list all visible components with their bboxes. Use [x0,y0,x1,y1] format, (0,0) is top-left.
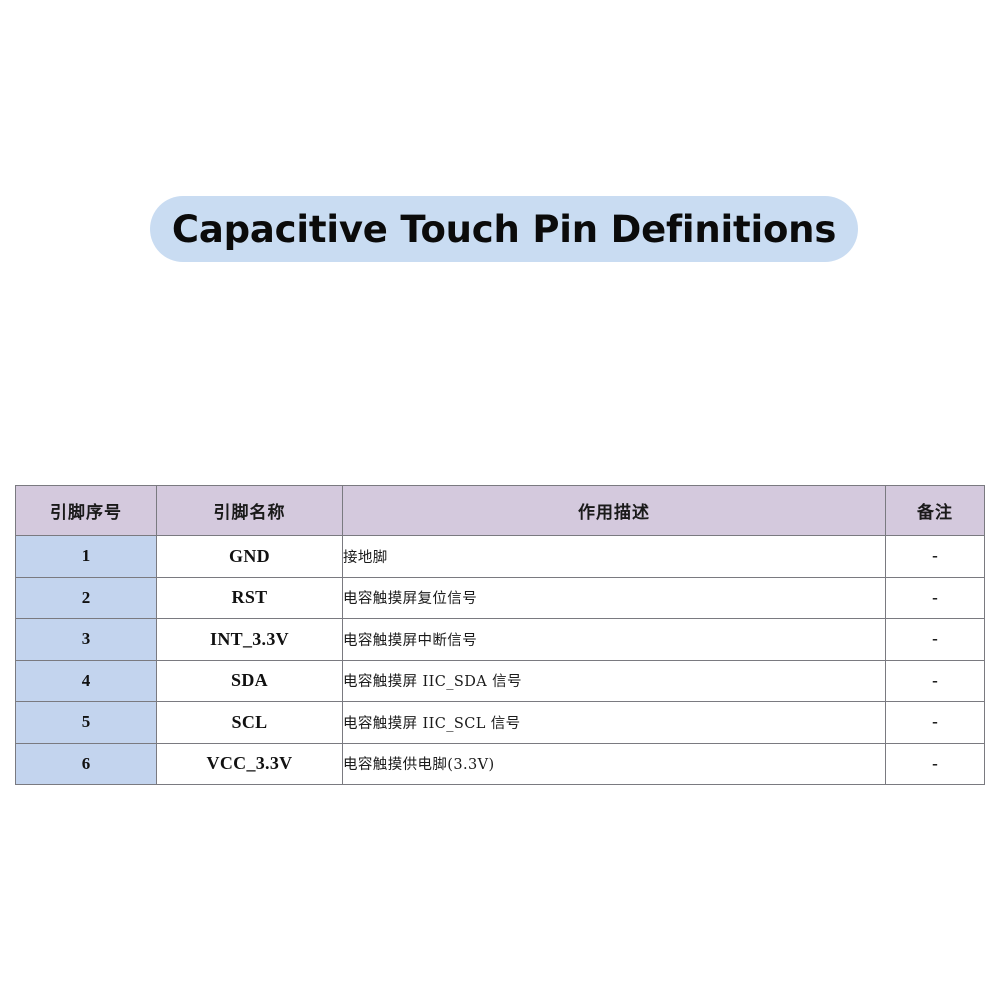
pin-definitions-table-container: 引脚序号 引脚名称 作用描述 备注 1 GND 接地脚 - 2 RST 电容触摸… [15,485,984,785]
table-row: 2 RST 电容触摸屏复位信号 - [16,577,985,619]
pin-definitions-table: 引脚序号 引脚名称 作用描述 备注 1 GND 接地脚 - 2 RST 电容触摸… [15,485,985,785]
cell-pin-name: INT_3.3V [157,619,343,661]
table-header: 引脚序号 引脚名称 作用描述 备注 [16,486,985,536]
cell-remark: - [886,743,985,785]
table-row: 6 VCC_3.3V 电容触摸供电脚(3.3V) - [16,743,985,785]
cell-remark: - [886,536,985,578]
column-header-pin-name: 引脚名称 [157,486,343,536]
cell-description: 接地脚 [343,536,886,578]
table-row: 4 SDA 电容触摸屏 IIC_SDA 信号 - [16,660,985,702]
page-title: Capacitive Touch Pin Definitions [172,208,836,251]
cell-pin-index: 1 [16,536,157,578]
cell-remark: - [886,619,985,661]
cell-pin-index: 2 [16,577,157,619]
table-row: 1 GND 接地脚 - [16,536,985,578]
cell-pin-index: 5 [16,702,157,744]
cell-pin-name: GND [157,536,343,578]
cell-pin-index: 3 [16,619,157,661]
column-header-pin-index: 引脚序号 [16,486,157,536]
cell-description: 电容触摸屏 IIC_SCL 信号 [343,702,886,744]
cell-description: 电容触摸屏中断信号 [343,619,886,661]
cell-remark: - [886,577,985,619]
cell-pin-name: RST [157,577,343,619]
cell-pin-name: SCL [157,702,343,744]
table-header-row: 引脚序号 引脚名称 作用描述 备注 [16,486,985,536]
table-body: 1 GND 接地脚 - 2 RST 电容触摸屏复位信号 - 3 INT_3.3V… [16,536,985,785]
cell-remark: - [886,702,985,744]
cell-description: 电容触摸屏 IIC_SDA 信号 [343,660,886,702]
column-header-remarks: 备注 [886,486,985,536]
column-header-description: 作用描述 [343,486,886,536]
cell-pin-index: 6 [16,743,157,785]
table-row: 3 INT_3.3V 电容触摸屏中断信号 - [16,619,985,661]
cell-pin-index: 4 [16,660,157,702]
cell-pin-name: VCC_3.3V [157,743,343,785]
cell-pin-name: SDA [157,660,343,702]
cell-remark: - [886,660,985,702]
page-title-banner: Capacitive Touch Pin Definitions [150,196,858,262]
table-row: 5 SCL 电容触摸屏 IIC_SCL 信号 - [16,702,985,744]
cell-description: 电容触摸供电脚(3.3V) [343,743,886,785]
cell-description: 电容触摸屏复位信号 [343,577,886,619]
